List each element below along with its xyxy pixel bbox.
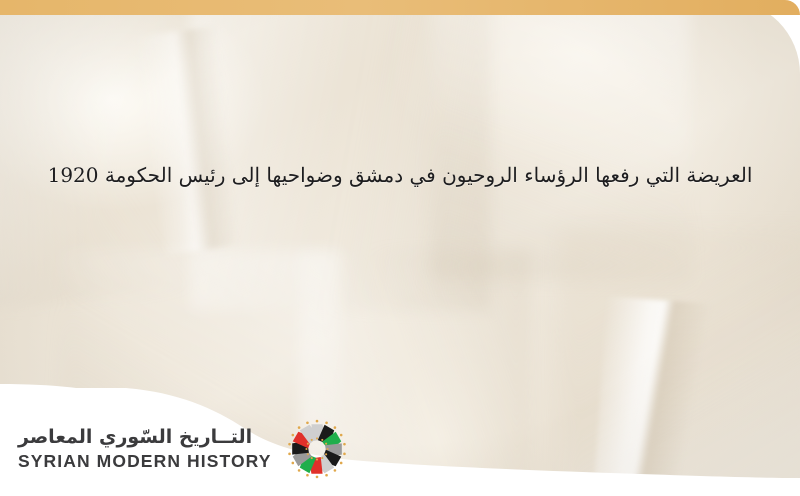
brand-name-english: SYRIAN MODERN HISTORY <box>18 451 272 471</box>
gold-bar-top <box>0 0 800 15</box>
brand-lockup[interactable]: التــاريخ السّوري المعاصر SYRIAN MODERN … <box>18 418 348 480</box>
brand-wordmark: التــاريخ السّوري المعاصر SYRIAN MODERN … <box>18 427 272 471</box>
paper-crease <box>0 0 395 311</box>
paper-crease <box>430 0 690 280</box>
brand-name-arabic: التــاريخ السّوري المعاصر <box>18 427 252 449</box>
paper-fold-line <box>593 296 717 496</box>
page-title: العريضة التي رفعها الرؤساء الروحيون في د… <box>12 160 789 191</box>
article-cover-card: العريضة التي رفعها الرؤساء الروحيون في د… <box>0 0 800 496</box>
paper-crease <box>560 230 800 496</box>
gold-bar-bottom <box>0 478 800 496</box>
title-zone: العريضة التي رفعها الرؤساء الروحيون في د… <box>0 160 800 191</box>
mosaic-rosette-emblem-icon <box>286 418 348 480</box>
paper-fold-line <box>135 25 255 255</box>
paper-crease <box>190 0 490 310</box>
